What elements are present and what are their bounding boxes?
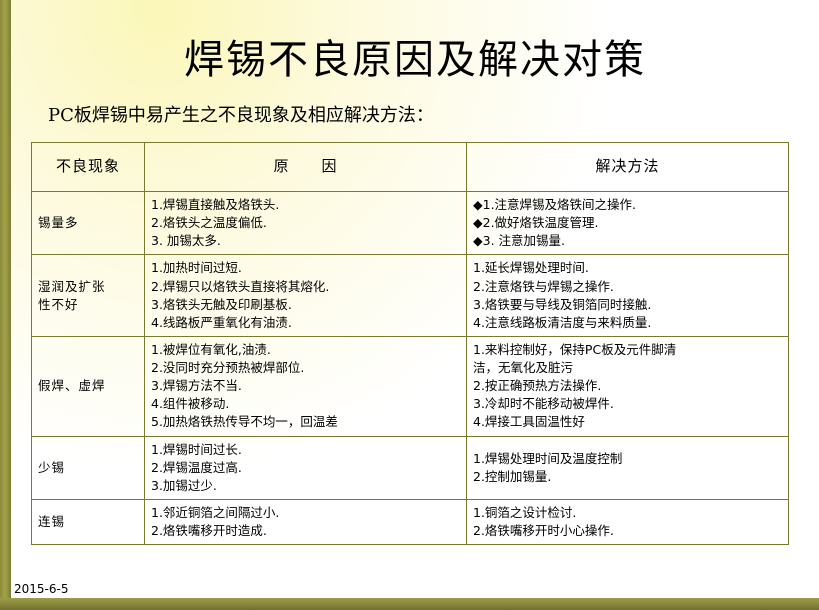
cell-cause: 1.邻近铜箔之间隔过小. 2.烙铁嘴移开时造成.	[145, 499, 467, 544]
cell-solution: ◆1.注意焊锡及烙铁间之操作. ◆2.做好烙铁温度管理. ◆3. 注意加锡量.	[467, 192, 789, 255]
slide-date: 2015-6-5	[14, 582, 68, 596]
column-header-cause: 原 因	[145, 143, 467, 192]
decorative-bottom-bar	[0, 598, 819, 610]
slide-canvas: 焊锡不良原因及解决对策 PC板焊锡中易产生之不良现象及相应解决方法： 不良现象 …	[0, 0, 819, 610]
decorative-left-bar	[0, 0, 11, 610]
cell-cause: 1.焊锡时间过长. 2.焊锡温度过高. 3.加锡过少.	[145, 436, 467, 499]
cell-cause: 1.焊锡直接触及烙铁头. 2.烙铁头之温度偏低. 3. 加锡太多.	[145, 192, 467, 255]
table-header-row: 不良现象 原 因 解决方法	[32, 143, 789, 192]
cell-symptom: 少锡	[32, 436, 145, 499]
defects-table: 不良现象 原 因 解决方法 锡量多 1.焊锡直接触及烙铁头. 2.烙铁头之温度偏…	[31, 142, 789, 545]
cell-solution: 1.焊锡处理时间及温度控制 2.控制加锡量.	[467, 436, 789, 499]
cell-cause: 1.被焊位有氧化,油渍. 2.没同时充分预热被焊部位. 3.焊锡方法不当. 4.…	[145, 336, 467, 436]
table-row: 假焊、虚焊 1.被焊位有氧化,油渍. 2.没同时充分预热被焊部位. 3.焊锡方法…	[32, 336, 789, 436]
cell-symptom: 锡量多	[32, 192, 145, 255]
cell-symptom: 假焊、虚焊	[32, 336, 145, 436]
column-header-solution: 解决方法	[467, 143, 789, 192]
slide-title: 焊锡不良原因及解决对策	[11, 38, 819, 82]
cell-symptom: 连锡	[32, 499, 145, 544]
table-row: 湿润及扩张 性不好 1.加热时间过短. 2.焊锡只以烙铁头直接将其熔化. 3.烙…	[32, 255, 789, 337]
table-row: 少锡 1.焊锡时间过长. 2.焊锡温度过高. 3.加锡过少. 1.焊锡处理时间及…	[32, 436, 789, 499]
table-row: 连锡 1.邻近铜箔之间隔过小. 2.烙铁嘴移开时造成. 1.铜箔之设计检讨. 2…	[32, 499, 789, 544]
cell-solution: 1.来料控制好，保持PC板及元件脚清 洁，无氧化及脏污 2.按正确预热方法操作.…	[467, 336, 789, 436]
column-header-symptom: 不良现象	[32, 143, 145, 192]
cell-cause: 1.加热时间过短. 2.焊锡只以烙铁头直接将其熔化. 3.烙铁头无触及印刷基板.…	[145, 255, 467, 337]
slide-subtitle: PC板焊锡中易产生之不良现象及相应解决方法：	[48, 101, 434, 127]
cell-solution: 1.铜箔之设计检讨. 2.烙铁嘴移开时小心操作.	[467, 499, 789, 544]
cell-symptom: 湿润及扩张 性不好	[32, 255, 145, 337]
cell-solution: 1.延长焊锡处理时间. 2.注意烙铁与焊锡之操作. 3.烙铁要与导线及铜箔同时接…	[467, 255, 789, 337]
table-row: 锡量多 1.焊锡直接触及烙铁头. 2.烙铁头之温度偏低. 3. 加锡太多. ◆1…	[32, 192, 789, 255]
